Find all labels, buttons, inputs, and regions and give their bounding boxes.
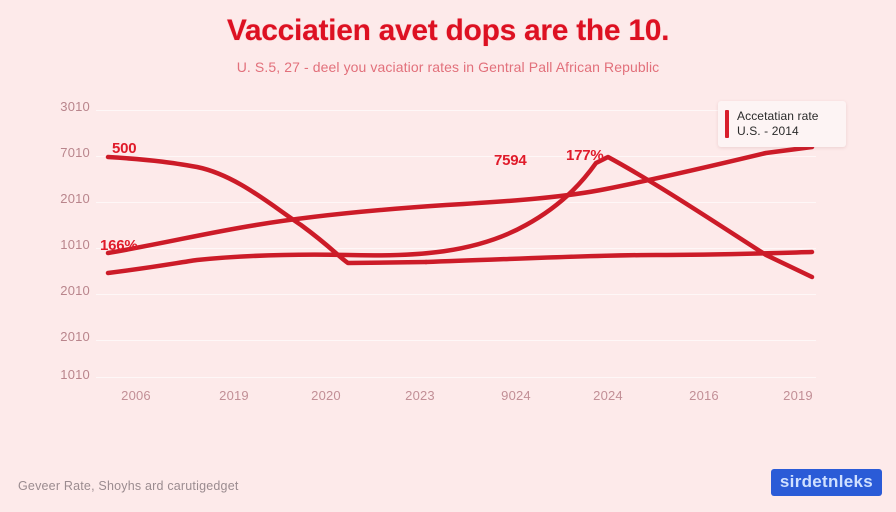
x-axis-tick: 2020 [311,388,341,404]
legend-color-swatch [725,110,729,138]
middle-series [108,147,812,253]
watermark-badge: sirdetnleks [771,469,882,496]
data-label: 7594 [494,152,527,169]
legend-series-period: U.S. - 2014 [737,124,819,139]
x-axis-tick: 2024 [593,388,623,404]
x-axis-tick: 2006 [121,388,151,404]
y-axis-tick: 2010 [28,192,90,206]
x-axis: 2006 2019 2020 2023 9024 2024 2016 2019 [96,388,826,412]
chart-legend[interactable]: Accetatian rate U.S. - 2014 [718,101,846,147]
footer-source-note: Geveer Rate, Shoyhs ard carutigedget [18,478,239,494]
y-axis-tick: 1010 [28,238,90,252]
y-axis-tick: 2010 [28,330,90,344]
chart-subtitle: U. S.5, 27 - deel you vaciatior rates in… [0,58,896,76]
x-axis-tick: 2023 [405,388,435,404]
chart-canvas: Vacciatien avet dops are the 10. U. S.5,… [0,0,896,512]
y-axis-tick: 1010 [28,368,90,382]
series-container [96,105,826,385]
y-axis-tick: 3010 [28,100,90,114]
legend-series-name: Accetatian rate [737,109,819,124]
data-label: 500 [112,140,136,157]
data-label: 177% [566,147,604,164]
declining-series-tail [426,252,812,262]
y-axis: 3010 7010 2010 1010 2010 2010 1010 [28,100,90,385]
x-axis-tick: 2019 [219,388,249,404]
y-axis-tick: 7010 [28,146,90,160]
data-label: 166% [100,237,138,254]
page-title: Vacciatien avet dops are the 10. [0,12,896,50]
chart-header: Vacciatien avet dops are the 10. U. S.5,… [0,12,896,76]
x-axis-tick: 9024 [501,388,531,404]
x-axis-tick: 2016 [689,388,719,404]
x-axis-tick: 2019 [783,388,813,404]
legend-text: Accetatian rate U.S. - 2014 [737,109,819,139]
y-axis-tick: 2010 [28,284,90,298]
